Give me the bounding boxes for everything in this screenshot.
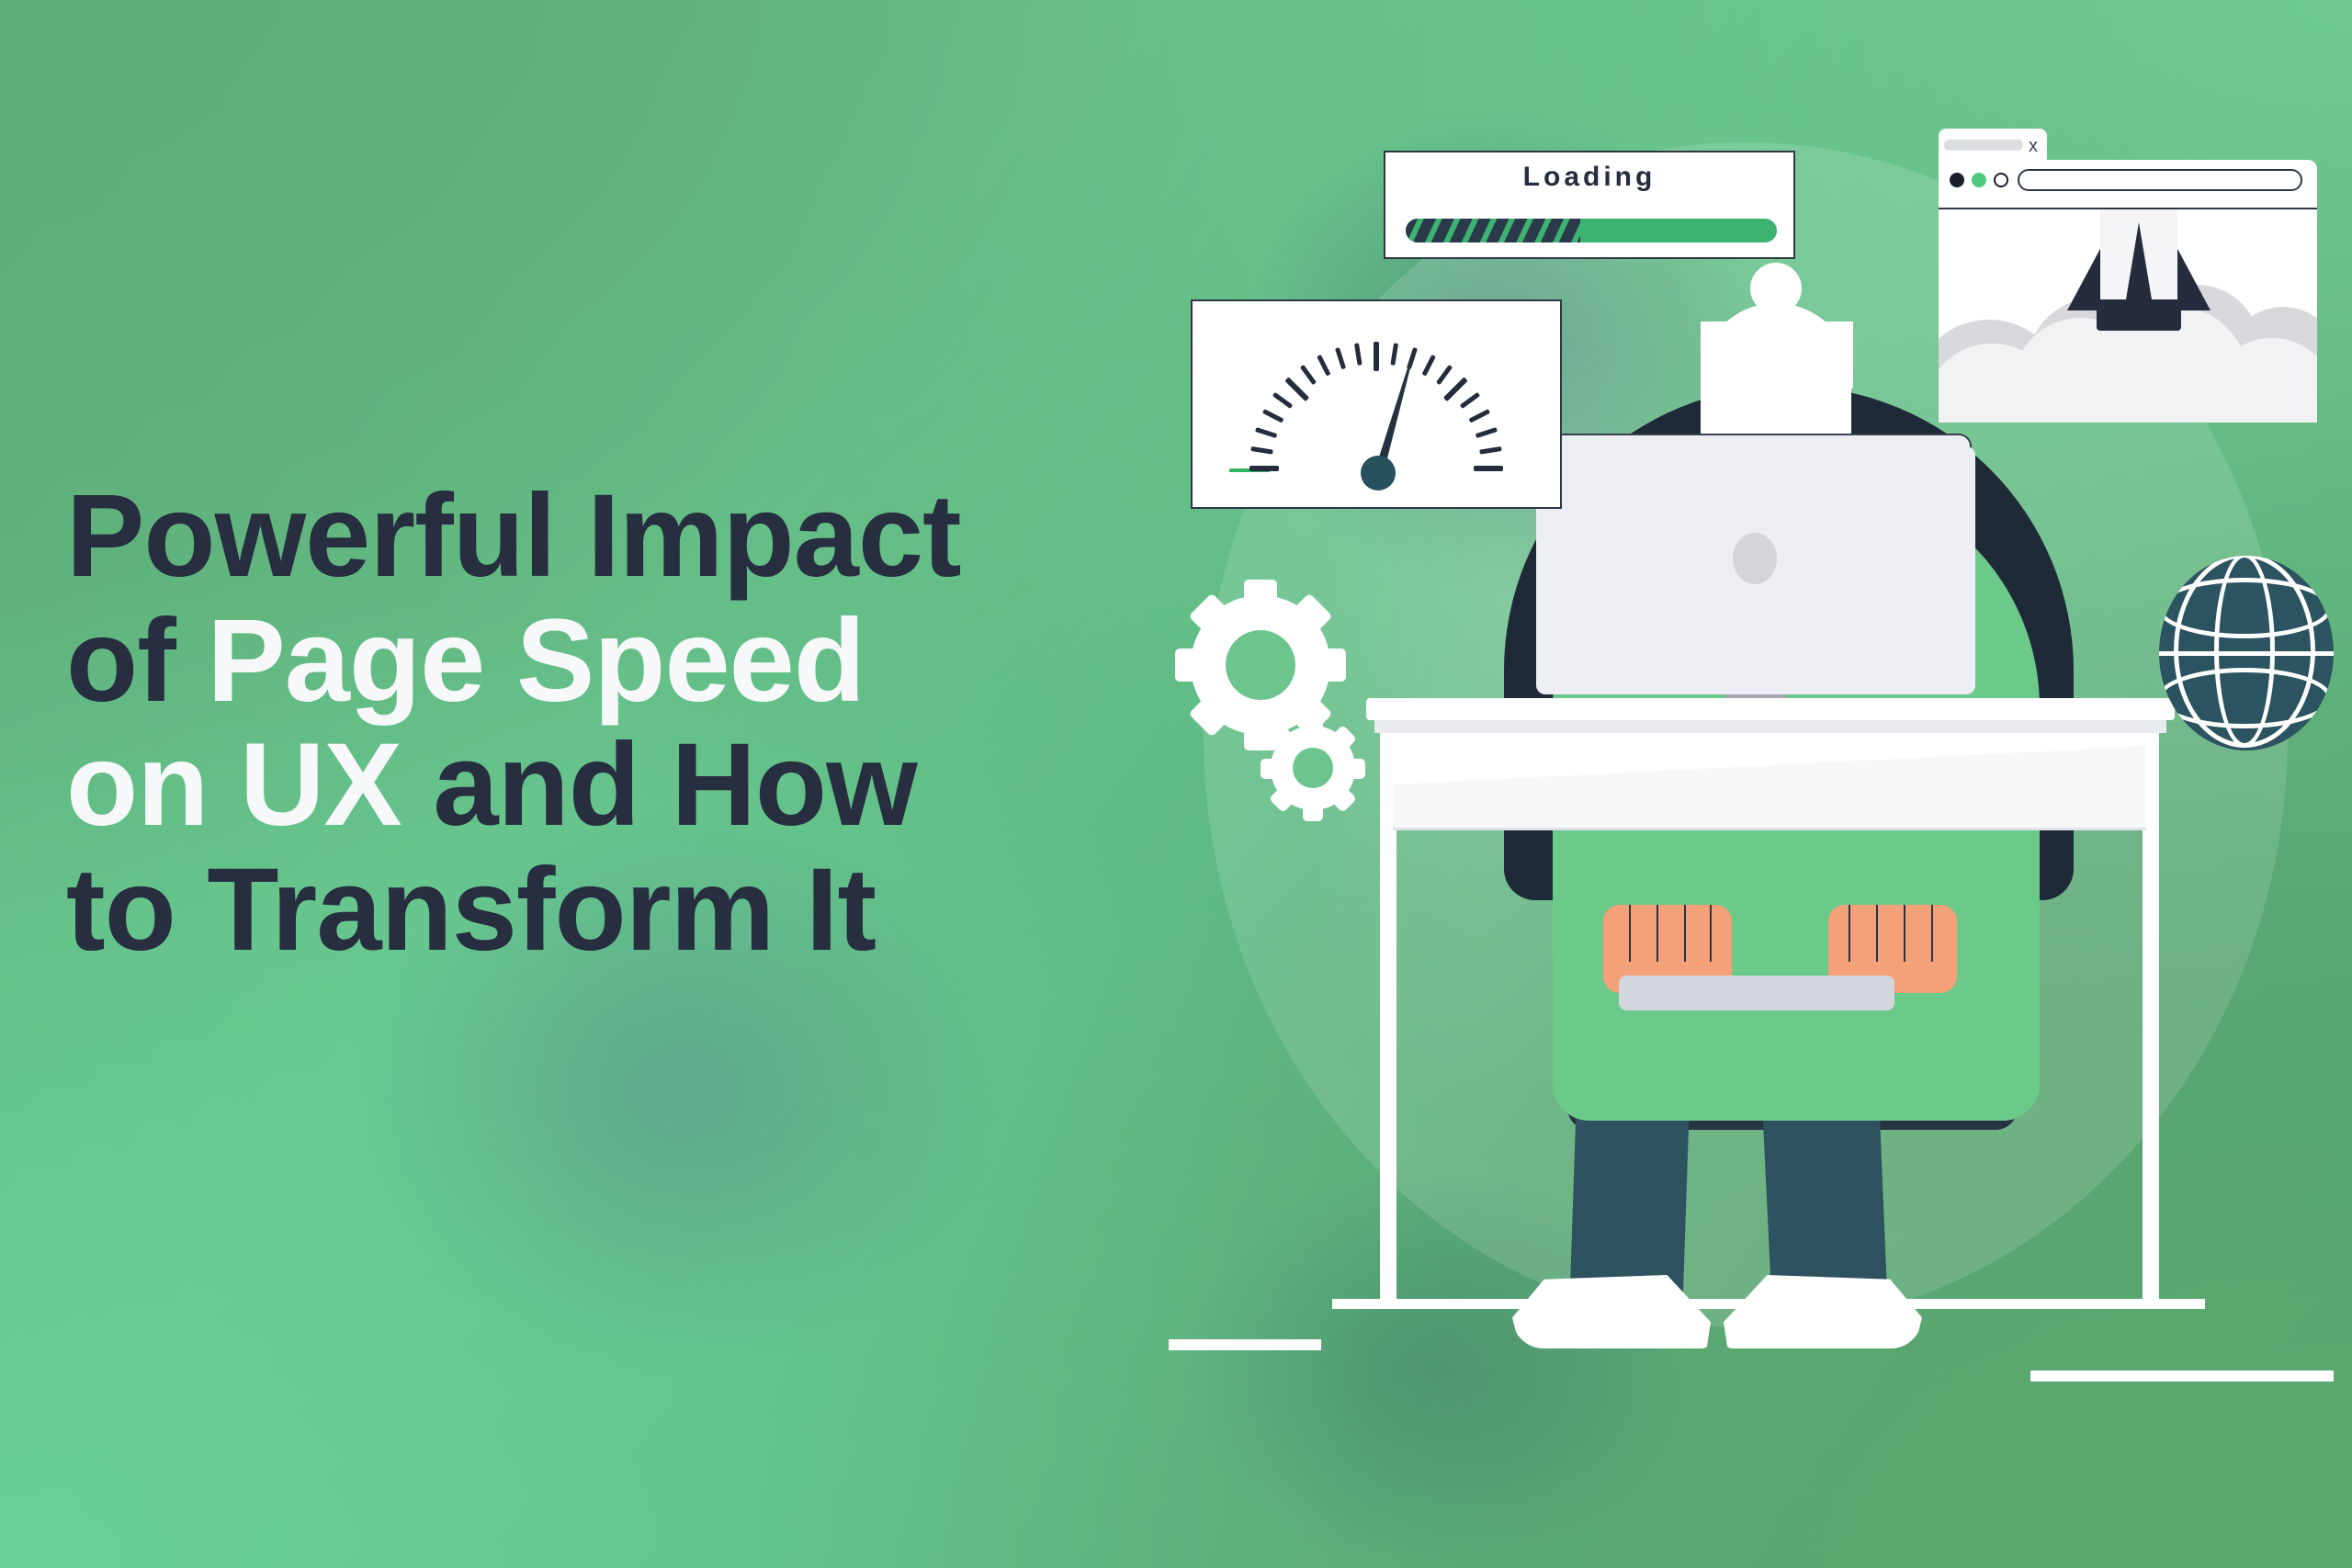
gear-tooth [1303,801,1323,821]
browser-viewport [1939,208,2317,423]
gear-tooth [1303,716,1323,737]
globe-icon [2159,556,2334,750]
monitor-logo [1733,533,1777,584]
traffic-light-dot-2 [1972,173,1986,187]
gear-tooth [1261,759,1281,779]
desk-top-edge [1374,718,2166,733]
gear-tooth [1345,759,1365,779]
hero-banner: Powerful Impact of Page Speed on UX and … [0,0,2352,1568]
floor-line-main [1332,1299,2205,1309]
illustration: Loading x [0,0,2352,1568]
desk-top [1366,698,2175,720]
keyboard [1619,976,1894,1010]
browser-tab-title-bar [1944,140,2023,151]
loading-window: Loading [1384,151,1795,259]
small-gear-icon [1271,726,1355,810]
floor-line-left [1169,1339,1321,1350]
close-icon[interactable]: x [2029,134,2038,158]
gauge-tick [1474,466,1503,471]
gauge [1229,321,1523,509]
address-bar[interactable] [2018,169,2302,191]
large-gear-icon [1191,595,1330,735]
traffic-light-dot-3 [1994,173,2008,187]
rocket-browser-window: x [1939,129,2317,423]
gauge-needle-hub [1361,456,1396,491]
thought-bubble-dot [1750,263,1802,314]
gear-tooth [1175,649,1206,682]
traffic-light-dot-1 [1950,173,1964,187]
gear-hole [1293,748,1333,788]
person-shoe-right [1724,1275,1922,1348]
loading-progress-track [1406,219,1777,243]
gear-tooth [1315,649,1346,682]
gear-tooth [1244,580,1277,611]
globe-meridian-outer [2174,556,2315,748]
gauge-tick [1249,466,1279,471]
page-speed-gauge-window [1191,299,1562,509]
loading-progress-fill [1406,219,1580,243]
gear-hole [1226,630,1295,700]
rocket-engine-band [2097,299,2181,331]
floor-line-right [2030,1371,2334,1382]
gauge-tick [1374,342,1379,371]
loading-label: Loading [1523,162,1657,193]
